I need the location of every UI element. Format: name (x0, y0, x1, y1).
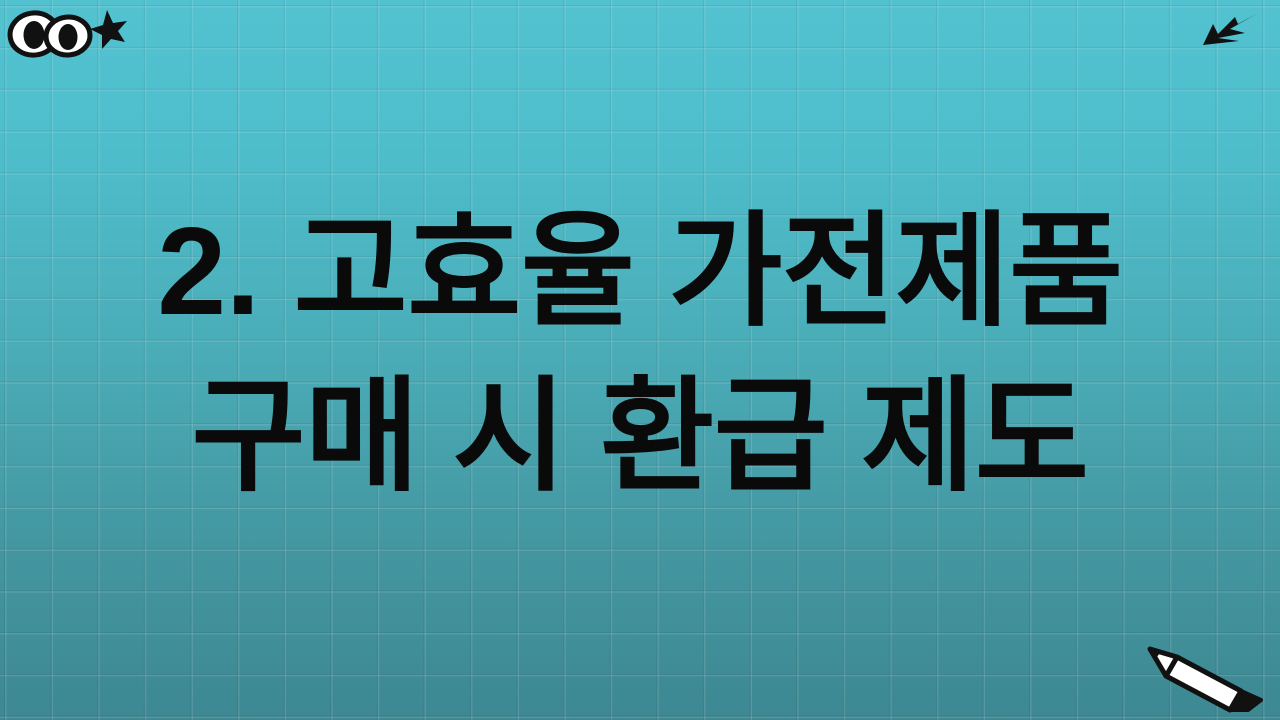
page-title: 2. 고효율 가전제품 구매 시 환급 제도 (0, 190, 1280, 520)
pupil-left-icon (24, 21, 45, 49)
googly-eyes-logo (7, 10, 92, 58)
arrow-decoration (1200, 8, 1262, 52)
arrow-down-left-icon (1203, 13, 1258, 45)
slide-canvas: 2. 고효율 가전제품 구매 시 환급 제도 (0, 0, 1280, 720)
logo (6, 4, 131, 62)
pencil-icon (1150, 649, 1261, 710)
star-icon (90, 10, 127, 49)
pupil-right-icon (59, 24, 78, 50)
headline-line-2: 구매 시 환급 제도 (0, 355, 1280, 520)
headline-line-1: 2. 고효율 가전제품 (0, 190, 1280, 355)
pencil-decoration (1144, 630, 1270, 714)
